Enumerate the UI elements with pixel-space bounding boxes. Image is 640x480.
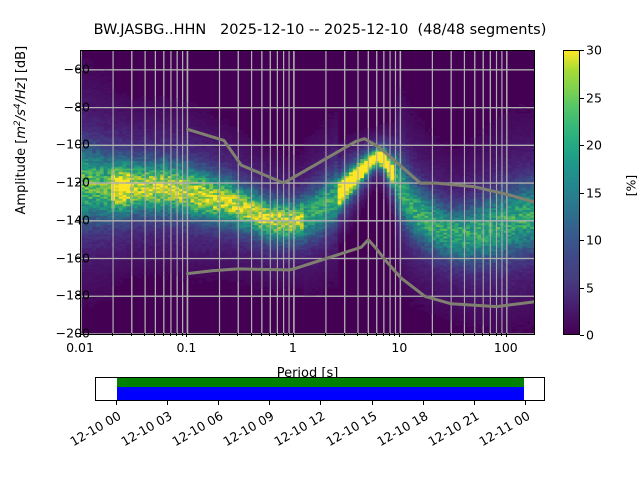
x-tick-mark — [283, 333, 284, 336]
colorbar-tick-mark — [580, 335, 584, 336]
timeline-tick-label: 12-10 21 — [418, 408, 481, 453]
x-tick-mark — [389, 333, 390, 336]
y-tick-mark — [76, 69, 80, 70]
x-tick-mark — [170, 333, 171, 336]
x-tick-mark — [344, 333, 345, 336]
x-tick-mark — [182, 333, 183, 336]
x-tick-mark — [112, 333, 113, 336]
x-tick-mark — [144, 333, 145, 336]
y-tick-mark — [76, 144, 80, 145]
x-tick-mark — [506, 333, 507, 337]
x-tick-mark — [463, 333, 464, 336]
y-tick-label: −200 — [30, 326, 90, 341]
colorbar-tick-mark — [580, 50, 584, 51]
x-tick-mark — [357, 333, 358, 336]
y-tick-label: −180 — [30, 288, 90, 303]
x-tick-mark — [325, 333, 326, 336]
x-tick-mark — [261, 333, 262, 336]
x-tick-mark — [176, 333, 177, 336]
timeline-tick-label: 12-10 12 — [265, 408, 328, 453]
x-tick-mark — [276, 333, 277, 336]
colorbar-tick-label: 20 — [586, 138, 602, 153]
x-tick-mark — [474, 333, 475, 336]
x-tick-mark — [367, 333, 368, 336]
y-tick-mark — [76, 107, 80, 108]
y-tick-mark — [76, 258, 80, 259]
x-tick-mark — [383, 333, 384, 336]
x-tick-label: 0.01 — [66, 340, 94, 355]
colorbar-title: [%] — [624, 166, 639, 206]
data-coverage-timeline — [95, 377, 545, 401]
timeline-tick-label: 12-10 18 — [367, 408, 430, 453]
colorbar-tick-mark — [580, 240, 584, 241]
timeline-tick-label: 12-11 00 — [469, 408, 532, 453]
x-tick-mark — [489, 333, 490, 336]
colorbar — [563, 50, 580, 335]
y-tick-mark — [76, 295, 80, 296]
data-coverage-green — [117, 378, 524, 387]
timeline-tick-label: 12-10 15 — [316, 408, 379, 453]
x-tick-label: 10 — [391, 340, 407, 355]
x-tick-mark — [186, 333, 187, 337]
y-tick-mark — [76, 182, 80, 183]
y-tick-label: −140 — [30, 212, 90, 227]
x-tick-mark — [80, 333, 81, 337]
x-tick-mark — [399, 333, 400, 337]
x-tick-mark — [450, 333, 451, 336]
x-tick-mark — [269, 333, 270, 336]
x-tick-mark — [154, 333, 155, 336]
colorbar-tick-label: 15 — [586, 185, 602, 200]
x-tick-mark — [376, 333, 377, 336]
x-tick-label: 1 — [289, 340, 297, 355]
colorbar-tick-label: 0 — [586, 328, 594, 343]
timeline-axis — [95, 401, 545, 402]
colorbar-tick-label: 30 — [586, 43, 602, 58]
colorbar-tick-mark — [580, 98, 584, 99]
x-tick-label: 0.1 — [177, 340, 197, 355]
y-tick-label: −80 — [30, 99, 90, 114]
x-tick-mark — [501, 333, 502, 336]
x-tick-mark — [237, 333, 238, 336]
y-tick-label: −160 — [30, 250, 90, 265]
colorbar-tick-label: 5 — [586, 280, 594, 295]
x-tick-label: 100 — [494, 340, 518, 355]
data-coverage-blue — [117, 387, 524, 400]
y-tick-label: −120 — [30, 175, 90, 190]
x-tick-mark — [431, 333, 432, 336]
colorbar-tick-label: 25 — [586, 90, 602, 105]
x-tick-mark — [293, 333, 294, 337]
y-tick-label: −60 — [30, 61, 90, 76]
colorbar-tick-mark — [580, 193, 584, 194]
x-tick-mark — [496, 333, 497, 336]
colorbar-tick-mark — [580, 145, 584, 146]
x-tick-mark — [394, 333, 395, 336]
colorbar-tick-mark — [580, 288, 584, 289]
x-tick-mark — [288, 333, 289, 336]
colorbar-tick-label: 10 — [586, 233, 602, 248]
x-tick-mark — [163, 333, 164, 336]
x-tick-mark — [219, 333, 220, 336]
axis-decorations: −60−80−100−120−140−160−180−200 0.010.111… — [0, 0, 640, 480]
y-axis-title: Amplitude [m2/s4/Hz] [dB] — [13, 0, 29, 270]
x-tick-mark — [131, 333, 132, 336]
y-tick-mark — [76, 220, 80, 221]
x-tick-mark — [482, 333, 483, 336]
x-tick-mark — [251, 333, 252, 336]
y-tick-label: −100 — [30, 137, 90, 152]
